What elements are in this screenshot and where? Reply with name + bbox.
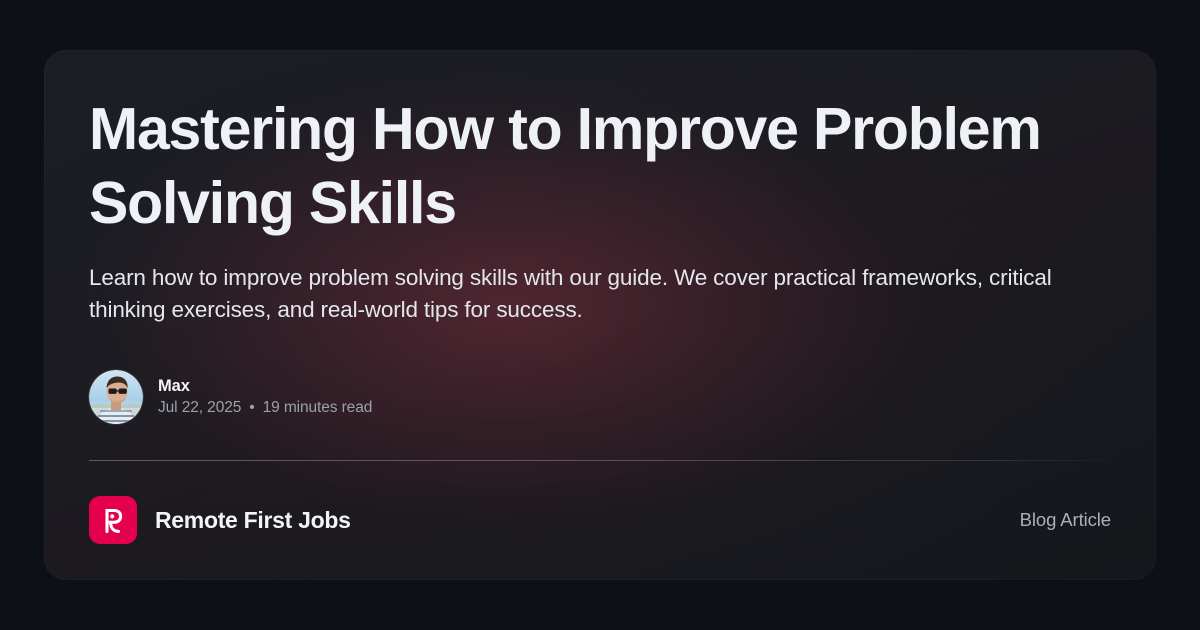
page-title: Mastering How to Improve Problem Solving… [89,92,1054,241]
content-type-label: Blog Article [1020,509,1111,531]
og-image-canvas: Mastering How to Improve Problem Solving… [0,0,1200,630]
author-name: Max [158,377,372,396]
publish-date: Jul 22, 2025 [158,399,241,417]
article-preview-card: Mastering How to Improve Problem Solving… [44,50,1156,580]
author-meta: Jul 22, 2025 • 19 minutes read [158,399,372,417]
read-time: 19 minutes read [263,399,373,417]
meta-separator: • [249,399,254,417]
card-footer: Remote First Jobs Blog Article [89,492,1111,548]
author-byline: Max Jul 22, 2025 • 19 minutes read [89,370,372,424]
avatar [89,370,143,424]
user-photo-avatar-icon [89,370,143,424]
remote-first-jobs-r-logo-icon [89,496,137,544]
brand-name: Remote First Jobs [155,507,351,534]
brand-block: Remote First Jobs [89,496,351,544]
article-description: Learn how to improve problem solving ski… [89,262,1099,326]
card-content: Mastering How to Improve Problem Solving… [89,50,1111,580]
divider [89,460,1111,461]
author-text: Max Jul 22, 2025 • 19 minutes read [158,377,372,417]
